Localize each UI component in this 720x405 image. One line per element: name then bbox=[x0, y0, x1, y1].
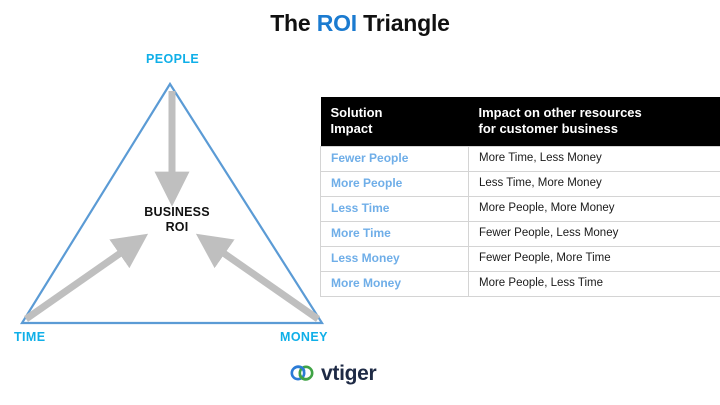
table-row: More People Less Time, More Money bbox=[321, 172, 720, 197]
table-row: More Time Fewer People, Less Money bbox=[321, 222, 720, 247]
table-row: Less Time More People, More Money bbox=[321, 197, 720, 222]
page-title-suffix: Triangle bbox=[357, 10, 450, 36]
cell-solution: Less Money bbox=[321, 247, 469, 272]
column-header-solution-impact-line2: Impact bbox=[331, 121, 459, 137]
roi-triangle-diagram: PEOPLE TIME MONEY BUSINESS ROI bbox=[0, 40, 345, 360]
column-header-solution-impact: Solution Impact bbox=[321, 97, 469, 147]
cell-impact: Fewer People, More Time bbox=[469, 247, 720, 272]
corner-label-money: MONEY bbox=[280, 330, 328, 344]
table-row: Fewer People More Time, Less Money bbox=[321, 147, 720, 172]
table-row: More Money More People, Less Time bbox=[321, 272, 720, 297]
column-header-impact-line1: Impact on other resources bbox=[479, 105, 711, 121]
column-header-impact-other-resources: Impact on other resources for customer b… bbox=[469, 97, 720, 147]
corner-label-time: TIME bbox=[14, 330, 45, 344]
impact-table-header: Solution Impact Impact on other resource… bbox=[321, 97, 720, 147]
arrow-time-to-center bbox=[26, 245, 132, 319]
page-title-prefix: The bbox=[270, 10, 316, 36]
table-row: Less Money Fewer People, More Time bbox=[321, 247, 720, 272]
cell-impact: Less Time, More Money bbox=[469, 172, 720, 197]
vtiger-wordmark: vtiger bbox=[321, 363, 376, 384]
column-header-impact-line2: for customer business bbox=[479, 121, 711, 137]
triangle-graphic bbox=[0, 40, 345, 360]
cell-solution: More Time bbox=[321, 222, 469, 247]
cell-impact: More Time, Less Money bbox=[469, 147, 720, 172]
cell-impact: More People, More Money bbox=[469, 197, 720, 222]
cell-solution: More People bbox=[321, 172, 469, 197]
center-label-line2: ROI bbox=[112, 220, 242, 235]
cell-impact: Fewer People, Less Money bbox=[469, 222, 720, 247]
page-title: The ROI Triangle bbox=[0, 10, 720, 37]
impact-table-body: Fewer People More Time, Less Money More … bbox=[321, 147, 720, 297]
vtiger-mark-icon bbox=[288, 362, 316, 384]
cell-solution: Fewer People bbox=[321, 147, 469, 172]
corner-label-people: PEOPLE bbox=[146, 52, 199, 66]
arrow-money-to-center bbox=[212, 245, 318, 319]
page-title-accent: ROI bbox=[317, 10, 357, 36]
cell-impact: More People, Less Time bbox=[469, 272, 720, 297]
center-label-line1: BUSINESS bbox=[112, 205, 242, 220]
cell-solution: More Money bbox=[321, 272, 469, 297]
column-header-solution-impact-line1: Solution bbox=[331, 105, 459, 121]
vtiger-logo: vtiger bbox=[288, 362, 376, 384]
center-label-business-roi: BUSINESS ROI bbox=[112, 205, 242, 235]
impact-table: Solution Impact Impact on other resource… bbox=[320, 97, 720, 297]
cell-solution: Less Time bbox=[321, 197, 469, 222]
table-header-row: Solution Impact Impact on other resource… bbox=[321, 97, 720, 147]
